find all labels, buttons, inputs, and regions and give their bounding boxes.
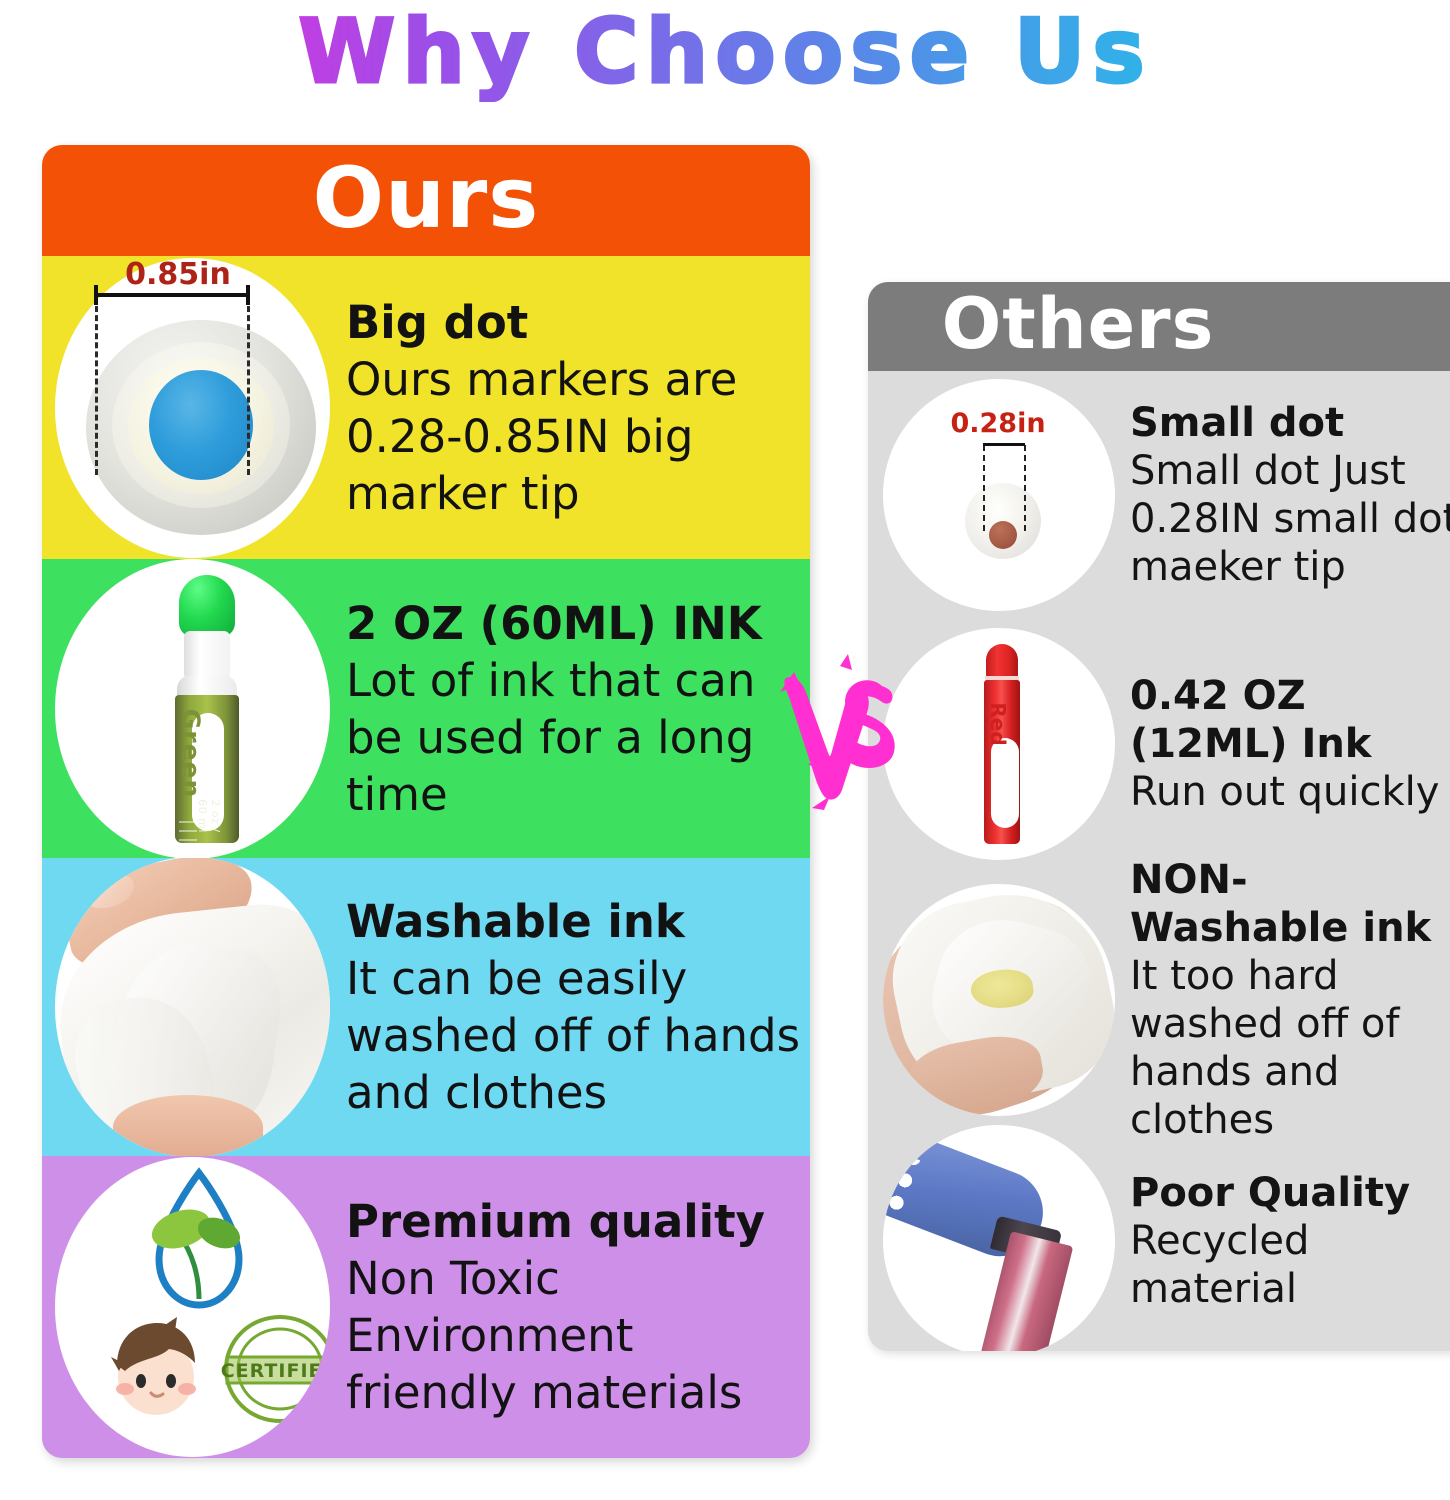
- water-drop-leaf-icon: [143, 1167, 255, 1315]
- hand-bottom-shape: [113, 1095, 263, 1156]
- poor-quality-media: [868, 1131, 1130, 1351]
- feature-desc: It can be easily washed off of hands and…: [346, 950, 802, 1121]
- blue-ink-dot: [149, 370, 253, 480]
- feature-desc: Small dot Just 0.28IN small dot maeker t…: [1130, 447, 1450, 591]
- feature-desc: It too hard washed off of hands and clot…: [1130, 952, 1450, 1144]
- broken-marker-scene: [883, 1125, 1115, 1351]
- green-marker-body: Green 2 oz / 60 ml: [175, 695, 239, 843]
- non-washable-media: [868, 869, 1130, 1131]
- ours-row-big-dot: 0.85in Big dot Ours markers are 0.28-0.8…: [42, 256, 810, 559]
- ink-volume-text: 0.42 OZ (12ML) Ink Run out quickly: [1130, 672, 1450, 816]
- feature-desc: Non Toxic Environment friendly materials: [346, 1250, 802, 1421]
- non-washable-text: NON-Washable ink It too hard washed off …: [1130, 856, 1450, 1144]
- green-marker-stripes: [179, 821, 197, 859]
- green-dauber-marker-icon: Green 2 oz / 60 ml: [173, 575, 241, 843]
- washable-text: Washable ink It can be easily washed off…: [342, 893, 810, 1121]
- feature-title: Poor Quality: [1130, 1169, 1450, 1217]
- page-title: Why Choose Us: [0, 2, 1450, 102]
- red-marker-media: Red: [868, 619, 1130, 869]
- feature-title: NON-Washable ink: [1130, 856, 1450, 952]
- svg-text:CERTIFIED: CERTIFIED: [221, 1360, 330, 1382]
- ours-panel-header: Ours: [42, 145, 810, 256]
- feature-desc: Run out quickly: [1130, 768, 1450, 816]
- stained-cloth-scene: [883, 884, 1115, 1116]
- red-marker-label-text: Red: [986, 676, 1010, 772]
- eco-icons-circle: CERTIFIED: [55, 1157, 330, 1457]
- big-dot-text: Big dot Ours markers are 0.28-0.85IN big…: [342, 294, 810, 522]
- ours-panel: Ours 0.85in Big dot Ours markers are 0.2…: [42, 145, 810, 1458]
- broken-marker-photo-circle: [883, 1125, 1115, 1351]
- green-marker-label-text: Green: [176, 693, 205, 813]
- red-marker-tip: [986, 644, 1018, 678]
- washable-media: [42, 858, 342, 1156]
- red-marker-photo-circle: Red: [883, 628, 1115, 860]
- measure-label-028: 0.28in: [923, 409, 1073, 439]
- others-row-small-dot: 0.28in Small dot Small dot Just 0.28IN s…: [868, 371, 1450, 619]
- others-panel: Others 0.28in Small dot Small dot Just 0…: [868, 282, 1450, 1351]
- red-marker-body: Red: [984, 680, 1020, 844]
- ours-row-premium-quality: CERTIFIED Premium quality Non Toxic Envi…: [42, 1156, 810, 1458]
- green-marker-photo-circle: Green 2 oz / 60 ml: [55, 559, 330, 858]
- others-row-non-washable: NON-Washable ink It too hard washed off …: [868, 869, 1450, 1131]
- ours-row-washable: Washable ink It can be easily washed off…: [42, 858, 810, 1156]
- feature-title: Premium quality: [346, 1193, 802, 1250]
- measure-label-085: 0.85in: [88, 258, 268, 292]
- ours-row-ink-volume: Green 2 oz / 60 ml 2 OZ (60ML) INK Lot o…: [42, 559, 810, 858]
- measure-bar-icon: [983, 443, 1025, 446]
- measure-guide-left: [983, 445, 985, 531]
- premium-quality-media: CERTIFIED: [42, 1156, 342, 1458]
- feature-title: Big dot: [346, 294, 802, 351]
- measure-bar-icon: [94, 293, 250, 297]
- poor-quality-text: Poor Quality Recycled material: [1130, 1169, 1450, 1313]
- feature-title: 2 OZ (60ML) INK: [346, 595, 802, 652]
- ink-volume-text: 2 OZ (60ML) INK Lot of ink that can be u…: [342, 595, 810, 823]
- premium-quality-text: Premium quality Non Toxic Environment fr…: [342, 1193, 810, 1421]
- small-dot-media: 0.28in: [868, 371, 1130, 619]
- feature-title: Small dot: [1130, 399, 1450, 447]
- ours-header-label: Ours: [313, 156, 540, 246]
- big-dot-media: 0.85in: [42, 256, 342, 559]
- certified-stamp-icon: CERTIFIED: [221, 1313, 330, 1425]
- feature-title: Washable ink: [346, 893, 802, 950]
- small-dot-text: Small dot Small dot Just 0.28IN small do…: [1130, 399, 1450, 591]
- feature-title: 0.42 OZ (12ML) Ink: [1130, 672, 1450, 768]
- green-marker-volume-text: 2 oz / 60 ml: [196, 796, 222, 836]
- clean-cloth-photo-circle: [55, 858, 330, 1156]
- small-dot-photo-circle: 0.28in: [883, 379, 1115, 611]
- measure-guide-right: [247, 297, 250, 475]
- others-panel-header: Others: [868, 282, 1450, 371]
- green-marker-media: Green 2 oz / 60 ml: [42, 559, 342, 858]
- measure-guide-left: [95, 297, 98, 475]
- feature-desc: Ours markers are 0.28-0.85IN big marker …: [346, 351, 802, 522]
- eco-icons-group: CERTIFIED: [55, 1157, 330, 1457]
- measure-guide-right: [1024, 445, 1026, 531]
- others-header-label: Others: [942, 289, 1394, 364]
- stained-cloth-photo-circle: [883, 884, 1115, 1116]
- others-row-poor-quality: Poor Quality Recycled material: [868, 1131, 1450, 1351]
- feature-desc: Recycled material: [1130, 1217, 1450, 1313]
- red-marker-icon: Red: [981, 644, 1023, 844]
- green-marker-cap: [179, 575, 235, 637]
- others-row-ink-volume: Red 0.42 OZ (12ML) Ink Run out quickly: [868, 619, 1450, 869]
- clean-cloth-scene: [55, 858, 330, 1156]
- feature-desc: Lot of ink that can be used for a long t…: [346, 652, 802, 823]
- child-face-icon: [103, 1315, 209, 1419]
- small-ink-dot: [989, 521, 1017, 549]
- others-panel-body: 0.28in Small dot Small dot Just 0.28IN s…: [868, 371, 1450, 1351]
